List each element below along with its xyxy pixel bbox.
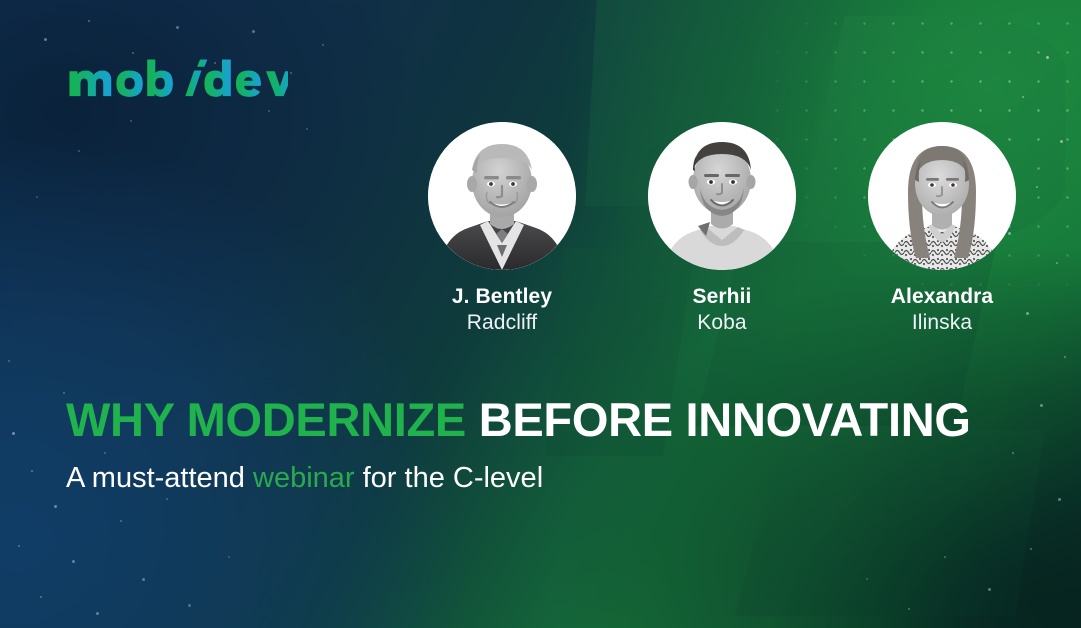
headline-accent: WHY MODERNIZE [66, 393, 466, 446]
speaker-first-name: J. Bentley [452, 286, 552, 309]
webinar-promo-banner: J. Bentley Radcliff [0, 0, 1081, 628]
speaker-card: J. Bentley Radcliff [392, 122, 612, 334]
speaker-card: Alexandra Ilinska [832, 122, 1052, 334]
subtitle-after: for the C-level [355, 462, 544, 494]
speaker-last-name: Ilinska [912, 312, 972, 335]
avatar-j-bentley-radcliff [428, 122, 576, 270]
page-subtitle: A must-attend webinar for the C-level [66, 462, 543, 495]
headline-plain [466, 393, 479, 446]
subtitle-accent: webinar [253, 462, 355, 494]
headline-plain-text: BEFORE INNOVATING [479, 393, 971, 446]
speaker-last-name: Koba [697, 312, 746, 335]
speaker-card: Serhii Koba [612, 122, 832, 334]
avatar-serhii-koba [648, 122, 796, 270]
speaker-first-name: Alexandra [891, 286, 993, 309]
subtitle-before: A must-attend [66, 462, 253, 494]
speaker-first-name: Serhii [693, 286, 752, 309]
mobidev-logo[interactable] [68, 58, 288, 102]
page-title: WHY MODERNIZE BEFORE INNOVATING [66, 396, 971, 443]
speaker-list: J. Bentley Radcliff [392, 122, 1052, 334]
avatar-alexandra-ilinska [868, 122, 1016, 270]
speaker-last-name: Radcliff [467, 312, 537, 335]
